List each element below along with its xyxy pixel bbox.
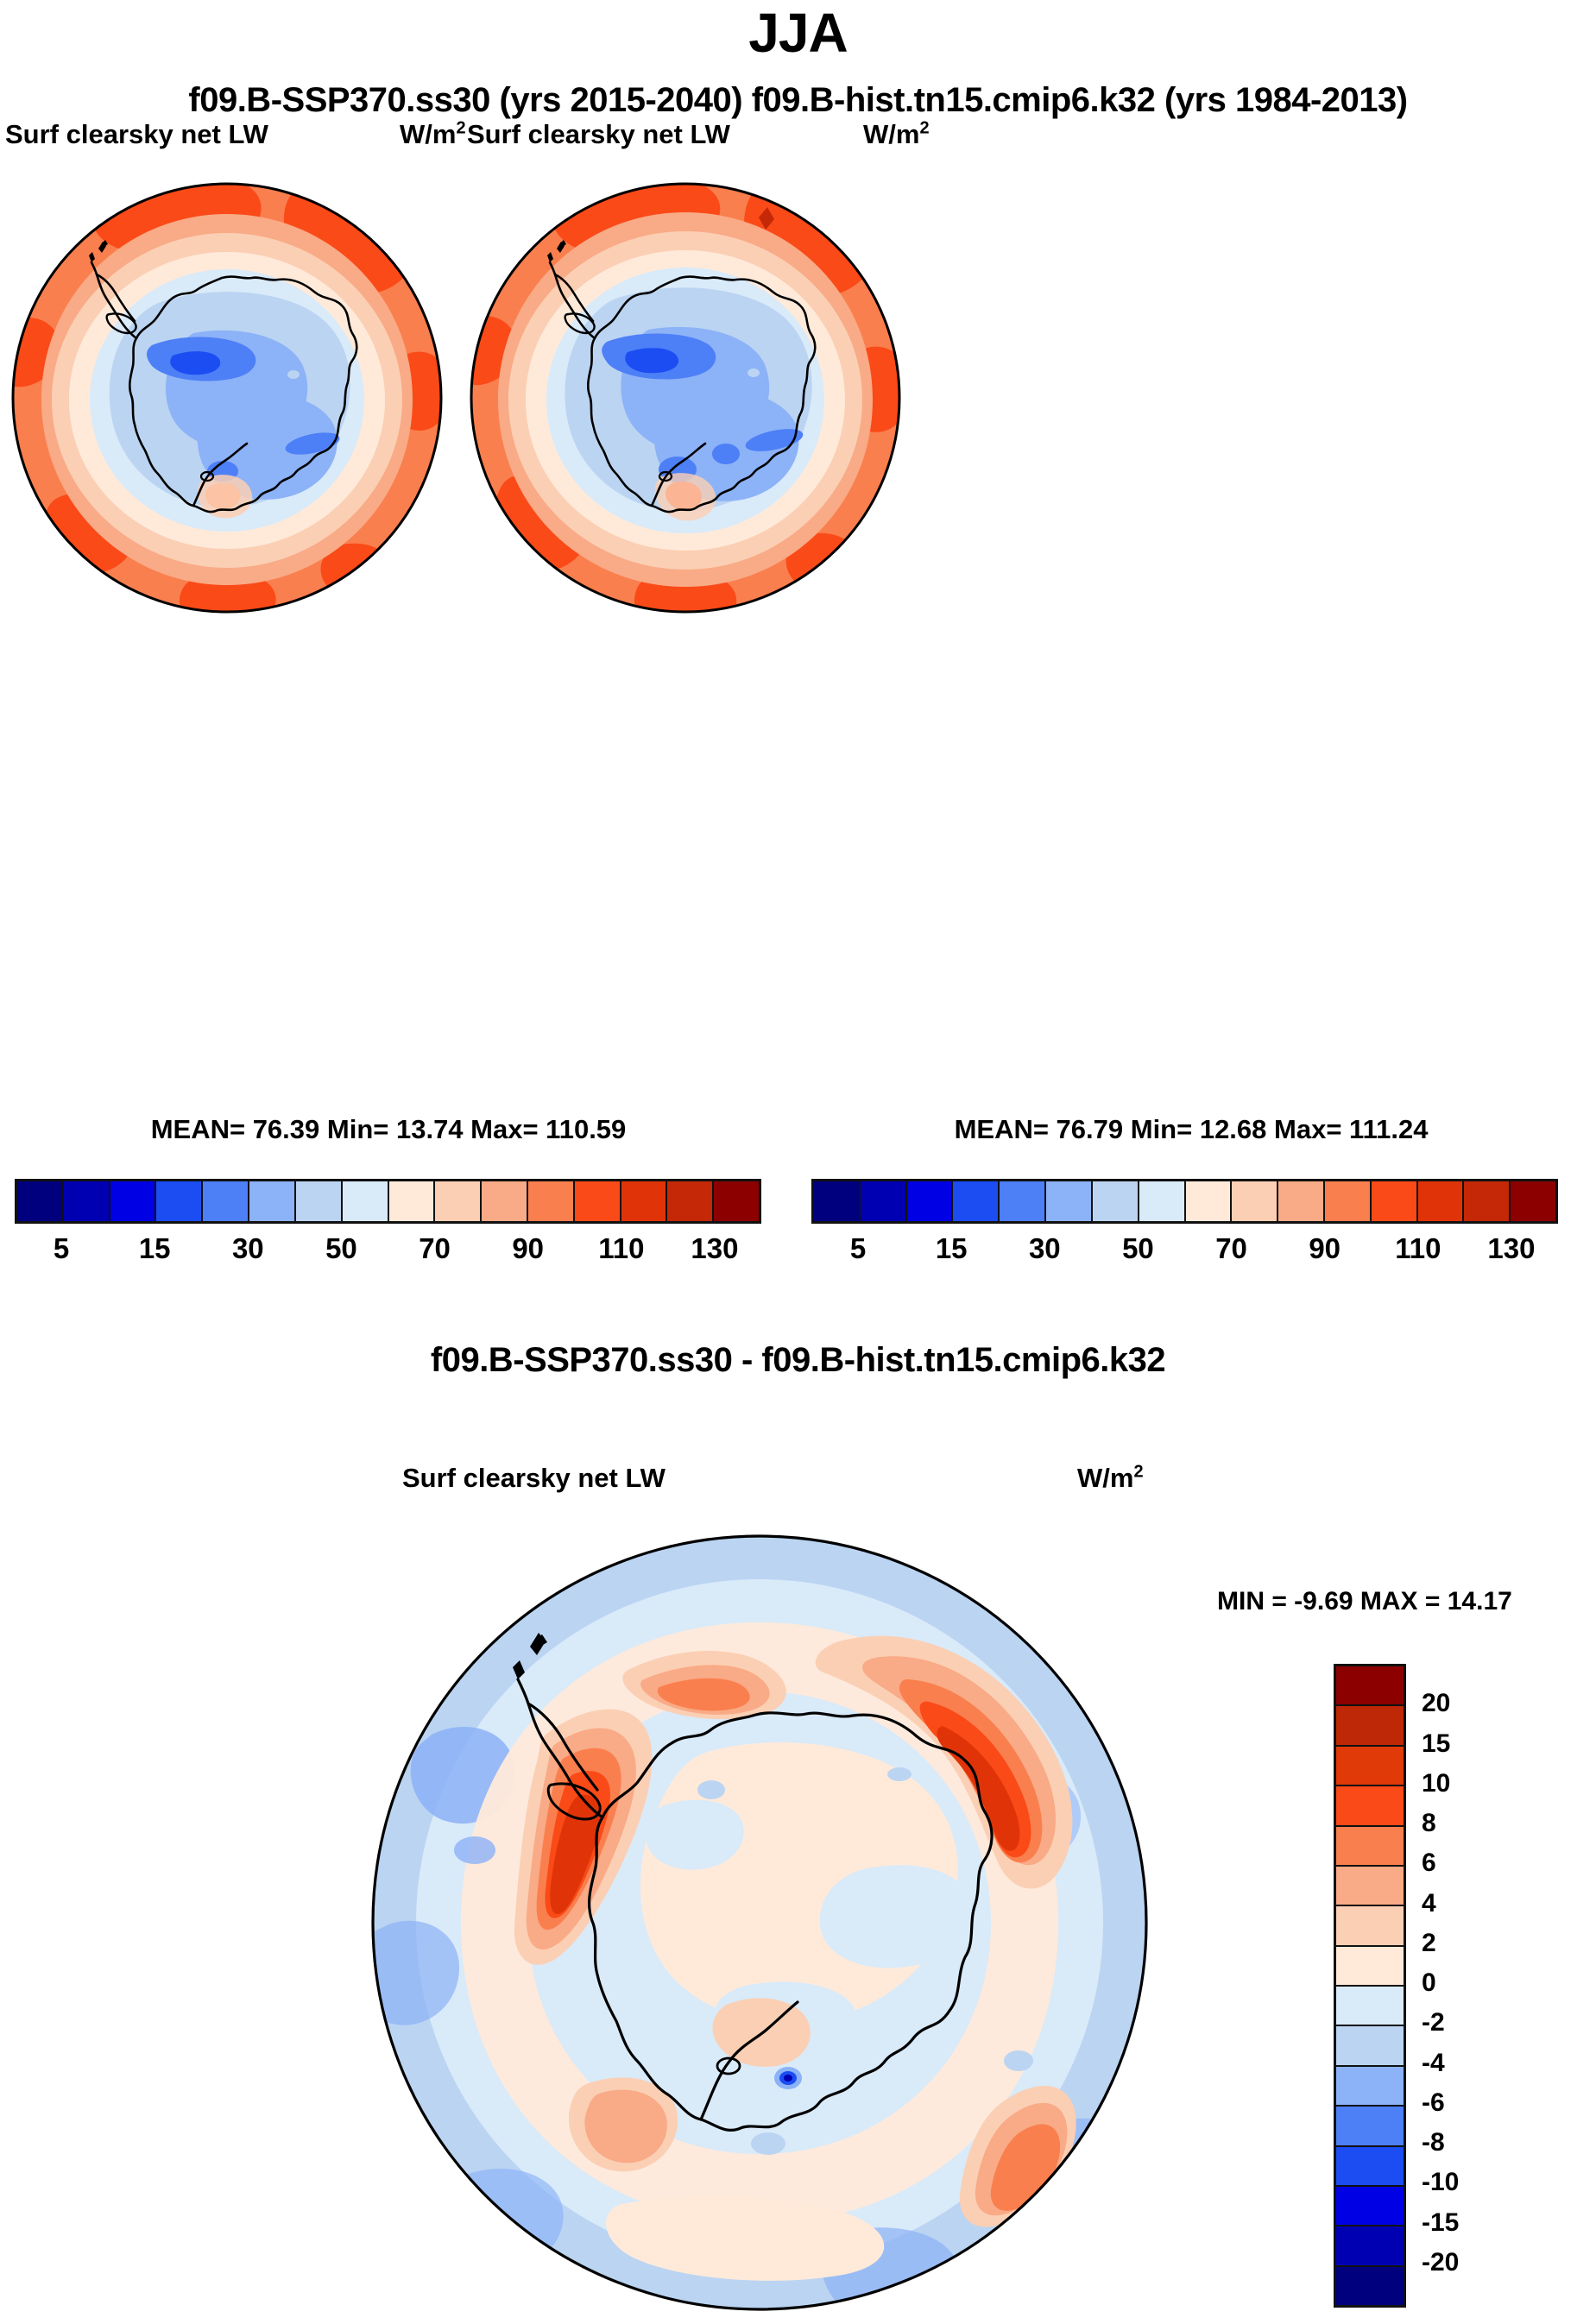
colorbar-swatch <box>64 1181 110 1221</box>
diff-panel-field-label: Surf clearsky net LW <box>402 1464 666 1491</box>
colorbar-swatch <box>1336 1827 1404 1867</box>
colorbar-swatch <box>1278 1181 1325 1221</box>
left-panel-unit-label: W/m2 <box>400 121 466 148</box>
colorbar-swatch <box>1336 1786 1404 1826</box>
colorbar-swatch <box>110 1181 157 1221</box>
difference-colorbar: 20151086420-2-4-6-8-10-15-20 <box>1334 1664 1532 2302</box>
colorbar-tick-label: 70 <box>1215 1234 1247 1263</box>
colorbar-tick-label: 15 <box>936 1234 968 1263</box>
colorbar-tick-label: -2 <box>1422 2010 1499 2036</box>
colorbar-swatch <box>435 1181 482 1221</box>
colorbar-tick-label: 15 <box>1422 1731 1499 1757</box>
colorbar-tick-label: -10 <box>1422 2170 1499 2195</box>
right-unit-exponent: 2 <box>919 119 929 138</box>
colorbar-tick-label: 20 <box>1422 1691 1499 1716</box>
colorbar-tick-label: 4 <box>1422 1891 1499 1917</box>
colorbar-swatch <box>714 1181 759 1221</box>
colorbar-swatch <box>1336 2026 1404 2066</box>
colorbar-swatch <box>1139 1181 1186 1221</box>
colorbar-swatch <box>1000 1181 1046 1221</box>
colorbar-swatch <box>389 1181 436 1221</box>
colorbar-tick-label: 6 <box>1422 1850 1499 1876</box>
colorbar-swatch <box>17 1181 64 1221</box>
left-panel-map <box>9 169 457 627</box>
right-colorbar-swatches <box>811 1179 1558 1224</box>
colorbar-tick-label: -20 <box>1422 2250 1499 2276</box>
colorbar-tick-label: 70 <box>419 1234 451 1263</box>
left-panel-stats: MEAN= 76.39 Min= 13.74 Max= 110.59 <box>0 1116 777 1143</box>
right-panel-field-label: Surf clearsky net LW <box>467 121 730 148</box>
colorbar-tick-label: 2 <box>1422 1930 1499 1956</box>
colorbar-swatch <box>528 1181 575 1221</box>
colorbar-tick-label: 130 <box>1487 1234 1535 1263</box>
colorbar-tick-label: 110 <box>1395 1234 1441 1263</box>
right-panel-map <box>467 169 916 627</box>
colorbar-tick-label: 50 <box>1122 1234 1154 1263</box>
colorbar-swatch <box>1093 1181 1139 1221</box>
diff-unit-exponent: 2 <box>1133 1463 1143 1482</box>
difference-title: f09.B-SSP370.ss30 - f09.B-hist.tn15.cmip… <box>0 1343 1596 1377</box>
colorbar-swatch <box>1336 2267 1404 2305</box>
difference-minmax: MIN = -9.69 MAX = 14.17 <box>1217 1589 1512 1615</box>
difference-map <box>363 1519 1165 2321</box>
right-panel-unit-label: W/m2 <box>863 121 930 148</box>
colorbar-tick-label: -8 <box>1422 2130 1499 2156</box>
colorbar-swatch <box>1336 2226 1404 2266</box>
colorbar-swatch <box>1046 1181 1093 1221</box>
colorbar-swatch <box>1336 1906 1404 1946</box>
colorbar-swatch <box>1336 2107 1404 2146</box>
colorbar-tick-label: 15 <box>139 1234 171 1263</box>
colorbar-swatch <box>1336 1867 1404 1906</box>
colorbar-swatch <box>1336 2187 1404 2226</box>
colorbar-swatch <box>1511 1181 1555 1221</box>
colorbar-tick-label: 110 <box>598 1234 644 1263</box>
colorbar-tick-label: 50 <box>325 1234 357 1263</box>
left-panel-field-label: Surf clearsky net LW <box>5 121 268 148</box>
left-unit-text: W/m <box>400 119 456 149</box>
colorbar-swatch <box>1336 1666 1404 1706</box>
colorbar-swatch <box>249 1181 296 1221</box>
colorbar-swatch <box>1336 1947 1404 1987</box>
colorbar-swatch <box>156 1181 203 1221</box>
left-colorbar-swatches <box>15 1179 761 1224</box>
case-subtitle: f09.B-SSP370.ss30 (yrs 2015-2040) f09.B-… <box>0 83 1596 117</box>
diff-panel-unit-label: W/m2 <box>1077 1464 1144 1491</box>
colorbar-swatch <box>1186 1181 1233 1221</box>
colorbar-tick-label: 30 <box>1029 1234 1061 1263</box>
page-title: JJA <box>0 5 1596 60</box>
difference-colorbar-labels: 20151086420-2-4-6-8-10-15-20 <box>1422 1664 1525 2302</box>
colorbar-tick-label: 5 <box>54 1234 69 1263</box>
colorbar-swatch <box>343 1181 389 1221</box>
colorbar-swatch <box>1336 1747 1404 1786</box>
left-colorbar: 51530507090110130 <box>15 1179 761 1272</box>
colorbar-tick-label: 90 <box>1309 1234 1341 1263</box>
colorbar-tick-label: 0 <box>1422 1970 1499 1996</box>
colorbar-swatch <box>1336 1987 1404 2026</box>
colorbar-swatch <box>1418 1181 1465 1221</box>
right-unit-text: W/m <box>863 119 919 149</box>
left-unit-exponent: 2 <box>456 119 465 138</box>
colorbar-swatch <box>1464 1181 1511 1221</box>
difference-colorbar-swatches <box>1334 1664 1406 2308</box>
colorbar-swatch <box>1336 2147 1404 2187</box>
colorbar-swatch <box>482 1181 528 1221</box>
colorbar-swatch <box>667 1181 714 1221</box>
colorbar-tick-label: 10 <box>1422 1771 1499 1797</box>
colorbar-swatch <box>907 1181 954 1221</box>
right-colorbar: 51530507090110130 <box>811 1179 1558 1272</box>
colorbar-swatch <box>296 1181 343 1221</box>
colorbar-swatch <box>575 1181 621 1221</box>
colorbar-swatch <box>814 1181 861 1221</box>
colorbar-tick-label: 30 <box>232 1234 264 1263</box>
colorbar-swatch <box>203 1181 249 1221</box>
colorbar-swatch <box>1232 1181 1278 1221</box>
colorbar-swatch <box>1372 1181 1418 1221</box>
colorbar-swatch <box>621 1181 668 1221</box>
colorbar-tick-label: 8 <box>1422 1811 1499 1836</box>
colorbar-swatch <box>953 1181 1000 1221</box>
colorbar-tick-label: -4 <box>1422 2050 1499 2076</box>
colorbar-tick-label: -6 <box>1422 2090 1499 2116</box>
colorbar-swatch <box>1336 2067 1404 2107</box>
diff-unit-text: W/m <box>1077 1463 1133 1493</box>
colorbar-swatch <box>861 1181 907 1221</box>
colorbar-tick-label: 130 <box>691 1234 738 1263</box>
colorbar-tick-label: 5 <box>850 1234 866 1263</box>
colorbar-swatch <box>1325 1181 1372 1221</box>
right-panel-stats: MEAN= 76.79 Min= 12.68 Max= 111.24 <box>803 1116 1580 1143</box>
colorbar-swatch <box>1336 1706 1404 1746</box>
colorbar-tick-label: -15 <box>1422 2210 1499 2236</box>
right-colorbar-labels: 51530507090110130 <box>811 1234 1558 1272</box>
left-colorbar-labels: 51530507090110130 <box>15 1234 761 1272</box>
colorbar-tick-label: 90 <box>512 1234 544 1263</box>
